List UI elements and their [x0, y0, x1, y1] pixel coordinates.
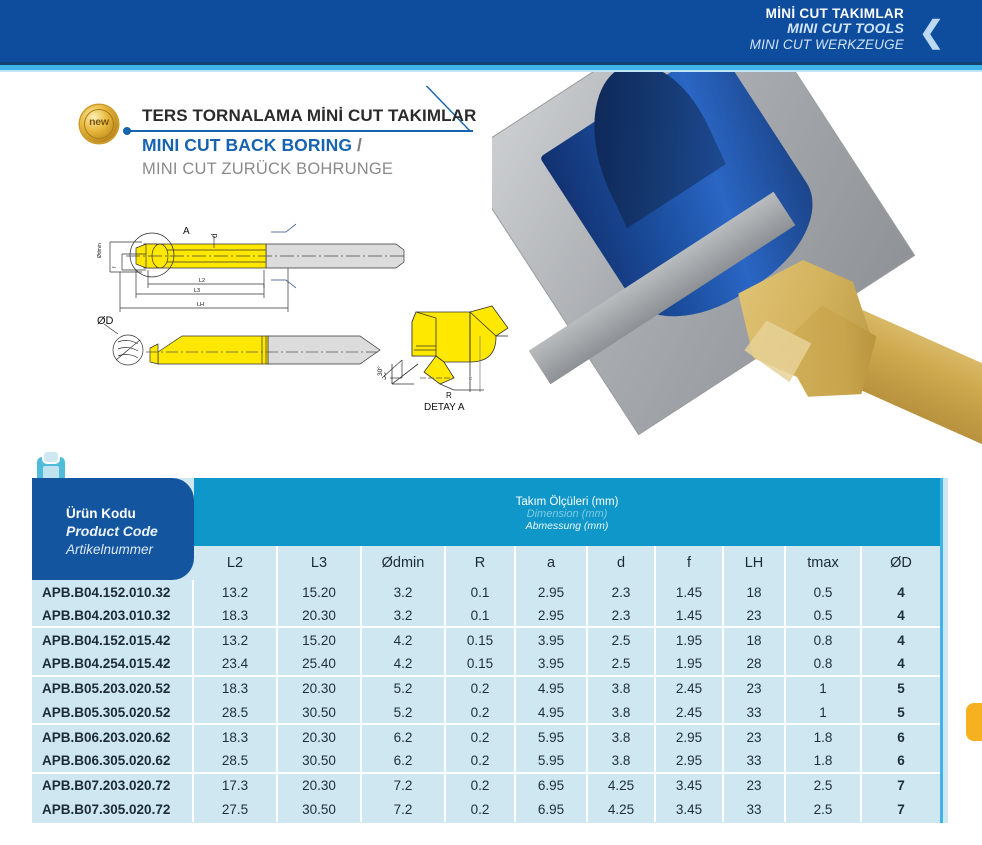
cell-odmin: 4.2 [362, 628, 446, 652]
cell-lh: 18 [724, 628, 786, 652]
column-header-tmax: tmax [786, 546, 862, 580]
cell-l3: 15.20 [278, 580, 362, 604]
cell-product-code: APB.B04.254.015.42 [32, 653, 194, 675]
header-title-group: MİNİ CUT TAKIMLAR MINI CUT TOOLS MINI CU… [750, 6, 904, 52]
cell-d: 2.5 [588, 653, 656, 675]
drawing-label-a: A [183, 226, 190, 237]
cell-product-code: APB.B04.203.010.32 [32, 604, 194, 626]
drawing-label-l2: L2 [199, 278, 205, 284]
page-side-tab[interactable] [966, 703, 982, 741]
header-title-de: MINI CUT WERKZEUGE [750, 37, 904, 52]
cell-f: 2.95 [656, 749, 724, 771]
cell-product-code: APB.B05.305.020.52 [32, 701, 194, 723]
cell-d: 3.8 [588, 677, 656, 701]
table-right-accent [940, 478, 943, 823]
cell-l2: 13.2 [194, 580, 278, 604]
cell-lh: 33 [724, 701, 786, 723]
drawing-label-dmin: Ødmin [97, 243, 103, 258]
section-title-de: MINI CUT ZURÜCK BOHRUNGE [142, 160, 393, 179]
table-row[interactable]: APB.B04.254.015.4223.425.404.20.153.952.… [32, 653, 940, 677]
detail-caption: DETAY A [424, 402, 465, 413]
table-row[interactable]: APB.B04.203.010.3218.320.303.20.12.952.3… [32, 604, 940, 628]
cell-a: 6.95 [516, 774, 588, 798]
drawing-label-d: d [210, 234, 219, 238]
cell-l3: 30.50 [278, 749, 362, 771]
drawing-label-od: ØD [97, 315, 114, 327]
cell-lh: 23 [724, 677, 786, 701]
table-column-headers: L2L3ØdminRadfLHtmaxØD [194, 546, 940, 580]
cell-lh: 23 [724, 725, 786, 749]
drawing-label-l3: L3 [194, 288, 200, 294]
cell-odmin: 7.2 [362, 774, 446, 798]
cell-d: 3.8 [588, 701, 656, 723]
cell-a: 3.95 [516, 653, 588, 675]
column-header-l3: L3 [278, 546, 362, 580]
column-header-d: d [588, 546, 656, 580]
cell-product-code: APB.B05.203.020.52 [32, 677, 194, 701]
technical-drawing-side-view: ØD 30° [90, 312, 410, 390]
new-badge-icon: new [80, 105, 118, 143]
column-header-f: f [656, 546, 724, 580]
cell-a: 5.95 [516, 749, 588, 771]
cell-a: 4.95 [516, 677, 588, 701]
cell-tmax: 2.5 [786, 774, 862, 798]
cell-odmin: 3.2 [362, 604, 446, 626]
cell-d: 2.3 [588, 580, 656, 604]
cell-lh: 23 [724, 604, 786, 626]
cell-r: 0.2 [446, 725, 516, 749]
column-header-r: R [446, 546, 516, 580]
cell-od: 4 [862, 653, 940, 675]
cell-odmin: 5.2 [362, 677, 446, 701]
section-title-en-text: MINI CUT BACK BORING [142, 135, 352, 155]
cell-r: 0.1 [446, 604, 516, 626]
product-code-header: Ürün Kodu Product Code Artikelnummer [32, 478, 194, 580]
cell-l3: 30.50 [278, 701, 362, 723]
cell-f: 2.95 [656, 725, 724, 749]
cell-f: 2.45 [656, 677, 724, 701]
table-row[interactable]: APB.B06.203.020.6218.320.306.20.25.953.8… [32, 725, 940, 749]
cell-od: 5 [862, 701, 940, 723]
cell-tmax: 0.5 [786, 604, 862, 626]
technical-drawing-detail-a: 30° R a DETAY A [384, 298, 519, 413]
cell-d: 4.25 [588, 798, 656, 822]
cell-odmin: 6.2 [362, 725, 446, 749]
table-row[interactable]: APB.B05.203.020.5218.320.305.20.24.953.8… [32, 677, 940, 701]
cell-l3: 20.30 [278, 725, 362, 749]
detail-label-r: R [446, 391, 452, 400]
column-header-dmin: Ødmin [362, 546, 446, 580]
cell-product-code: APB.B06.305.020.62 [32, 749, 194, 771]
new-badge-label: new [80, 116, 118, 128]
cell-f: 3.45 [656, 798, 724, 822]
table-row[interactable]: APB.B04.152.010.3213.215.203.20.12.952.3… [32, 580, 940, 604]
cell-od: 6 [862, 725, 940, 749]
cell-od: 7 [862, 774, 940, 798]
cell-lh: 18 [724, 580, 786, 604]
table-row[interactable]: APB.B07.305.020.7227.530.507.20.26.954.2… [32, 798, 940, 822]
column-header-lh: LH [724, 546, 786, 580]
cell-l2: 28.5 [194, 749, 278, 771]
section-title-slash: / [352, 135, 362, 155]
cell-r: 0.15 [446, 653, 516, 675]
table-row[interactable]: APB.B06.305.020.6228.530.506.20.25.953.8… [32, 749, 940, 773]
cell-f: 3.45 [656, 774, 724, 798]
cell-l2: 13.2 [194, 628, 278, 652]
column-header-l2: L2 [194, 546, 278, 580]
title-underline [128, 130, 473, 132]
product-code-header-tr: Ürün Kodu [66, 506, 136, 521]
cell-a: 2.95 [516, 604, 588, 626]
cell-f: 1.95 [656, 653, 724, 675]
cell-lh: 28 [724, 653, 786, 675]
cell-l3: 30.50 [278, 798, 362, 822]
product-render-image [492, 72, 982, 457]
cell-product-code: APB.B07.305.020.72 [32, 798, 194, 822]
cell-product-code: APB.B04.152.010.32 [32, 580, 194, 604]
cell-d: 4.25 [588, 774, 656, 798]
cell-l3: 25.40 [278, 653, 362, 675]
table-row[interactable]: APB.B07.203.020.7217.320.307.20.26.954.2… [32, 774, 940, 798]
cell-tmax: 1 [786, 701, 862, 723]
page-header-bar: MİNİ CUT TAKIMLAR MINI CUT TOOLS MINI CU… [0, 0, 982, 62]
cell-lh: 33 [724, 749, 786, 771]
cell-tmax: 2.5 [786, 798, 862, 822]
cell-f: 1.45 [656, 604, 724, 626]
cell-r: 0.2 [446, 774, 516, 798]
cell-l2: 17.3 [194, 774, 278, 798]
cell-d: 3.8 [588, 725, 656, 749]
header-title-tr: MİNİ CUT TAKIMLAR [750, 6, 904, 21]
cell-od: 7 [862, 798, 940, 822]
header-title-en: MINI CUT TOOLS [750, 21, 904, 37]
product-code-header-de: Artikelnummer [66, 542, 153, 557]
dimension-header-tr: Takım Ölçüleri (mm) [194, 496, 940, 508]
cell-od: 4 [862, 604, 940, 626]
cell-product-code: APB.B07.203.020.72 [32, 774, 194, 798]
cell-lh: 33 [724, 798, 786, 822]
detail-label-angle: 30° [384, 369, 388, 380]
cell-l3: 15.20 [278, 628, 362, 652]
cell-odmin: 6.2 [362, 749, 446, 771]
cell-od: 5 [862, 677, 940, 701]
cell-od: 4 [862, 580, 940, 604]
cell-l3: 20.30 [278, 774, 362, 798]
cell-l2: 18.3 [194, 725, 278, 749]
cell-r: 0.2 [446, 677, 516, 701]
drawing-label-lh: LH [197, 302, 204, 308]
cell-l3: 20.30 [278, 677, 362, 701]
cell-tmax: 1.8 [786, 749, 862, 771]
cell-tmax: 1.8 [786, 725, 862, 749]
section-title-tr: TERS TORNALAMA MİNİ CUT TAKIMLAR [142, 106, 476, 126]
cell-lh: 23 [724, 774, 786, 798]
section-title-en: MINI CUT BACK BORING / [142, 135, 362, 156]
cell-a: 4.95 [516, 701, 588, 723]
dimension-header-en: Dimension (mm) [194, 508, 940, 520]
cell-odmin: 4.2 [362, 653, 446, 675]
cell-odmin: 7.2 [362, 798, 446, 822]
cell-f: 1.95 [656, 628, 724, 652]
cell-od: 4 [862, 628, 940, 652]
detail-label-a: a [468, 376, 474, 380]
cell-tmax: 0.5 [786, 580, 862, 604]
drawing-label-angle: 30° [376, 366, 384, 376]
table-row[interactable]: APB.B05.305.020.5228.530.505.20.24.953.8… [32, 701, 940, 725]
cell-r: 0.2 [446, 798, 516, 822]
cell-tmax: 0.8 [786, 653, 862, 675]
cell-od: 6 [862, 749, 940, 771]
cell-tmax: 1 [786, 677, 862, 701]
chevron-left-icon[interactable]: ❮ [919, 22, 944, 44]
cell-l2: 18.3 [194, 677, 278, 701]
cell-odmin: 3.2 [362, 580, 446, 604]
cell-l2: 27.5 [194, 798, 278, 822]
cell-a: 3.95 [516, 628, 588, 652]
cell-a: 2.95 [516, 580, 588, 604]
table-body: APB.B04.152.010.3213.215.203.20.12.952.3… [32, 580, 940, 822]
column-header-d: ØD [862, 546, 940, 580]
cell-l3: 20.30 [278, 604, 362, 626]
table-row[interactable]: APB.B04.152.015.4213.215.204.20.153.952.… [32, 628, 940, 652]
cell-tmax: 0.8 [786, 628, 862, 652]
cell-l2: 23.4 [194, 653, 278, 675]
cell-a: 5.95 [516, 725, 588, 749]
cell-f: 2.45 [656, 701, 724, 723]
cell-r: 0.2 [446, 701, 516, 723]
cell-odmin: 5.2 [362, 701, 446, 723]
drawing-label-f: f [112, 266, 118, 268]
cell-l2: 18.3 [194, 604, 278, 626]
cell-f: 1.45 [656, 580, 724, 604]
dimension-header-de: Abmessung (mm) [194, 520, 940, 532]
cell-product-code: APB.B06.203.020.62 [32, 725, 194, 749]
dimension-header: Takım Ölçüleri (mm) Dimension (mm) Abmes… [194, 478, 940, 546]
cell-r: 0.1 [446, 580, 516, 604]
cell-r: 0.15 [446, 628, 516, 652]
cell-a: 6.95 [516, 798, 588, 822]
cell-product-code: APB.B04.152.015.42 [32, 628, 194, 652]
column-header-a: a [516, 546, 588, 580]
product-code-header-en: Product Code [66, 523, 158, 539]
cell-d: 3.8 [588, 749, 656, 771]
cell-d: 2.5 [588, 628, 656, 652]
cell-d: 2.3 [588, 604, 656, 626]
cell-r: 0.2 [446, 749, 516, 771]
cell-l2: 28.5 [194, 701, 278, 723]
